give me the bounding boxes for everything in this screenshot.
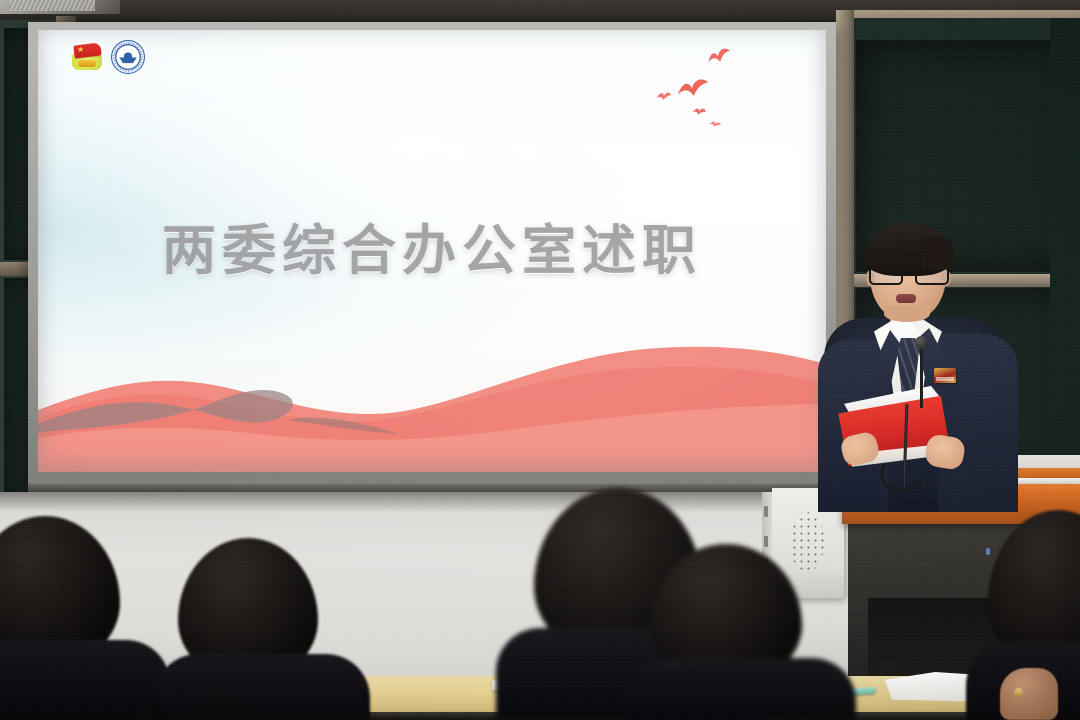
bird-icon: [705, 45, 734, 66]
bird-icon: [691, 104, 708, 117]
presenter-hair: [864, 222, 952, 276]
ceiling-vent-patch: [0, 0, 120, 14]
slide-bird-flock: [648, 44, 768, 134]
bird-icon: [655, 89, 672, 102]
microphone-head-icon: [915, 336, 928, 349]
bird-icon: [709, 118, 722, 129]
microphone-neck: [920, 346, 923, 408]
slide-logo-group: ★: [70, 40, 145, 74]
bird-icon: [675, 76, 711, 99]
slide-mountain-graphic: [38, 292, 826, 472]
projection-screen: ★ 两委综合办公室述职: [38, 30, 826, 472]
youth-league-flag-emblem-icon: ★: [70, 42, 104, 72]
audience-member: [0, 520, 180, 720]
audience-member: [170, 540, 370, 720]
audience-member: [640, 550, 850, 720]
slide-title: 两委综合办公室述职: [38, 206, 826, 285]
chalkboard-right-edge: [1050, 18, 1080, 510]
school-circular-seal-icon: [111, 40, 145, 74]
audience-hand: [1000, 668, 1058, 720]
classroom-presentation-photo: ★ 两委综合办公室述职: [0, 0, 1080, 720]
lapel-badge: [934, 368, 956, 383]
